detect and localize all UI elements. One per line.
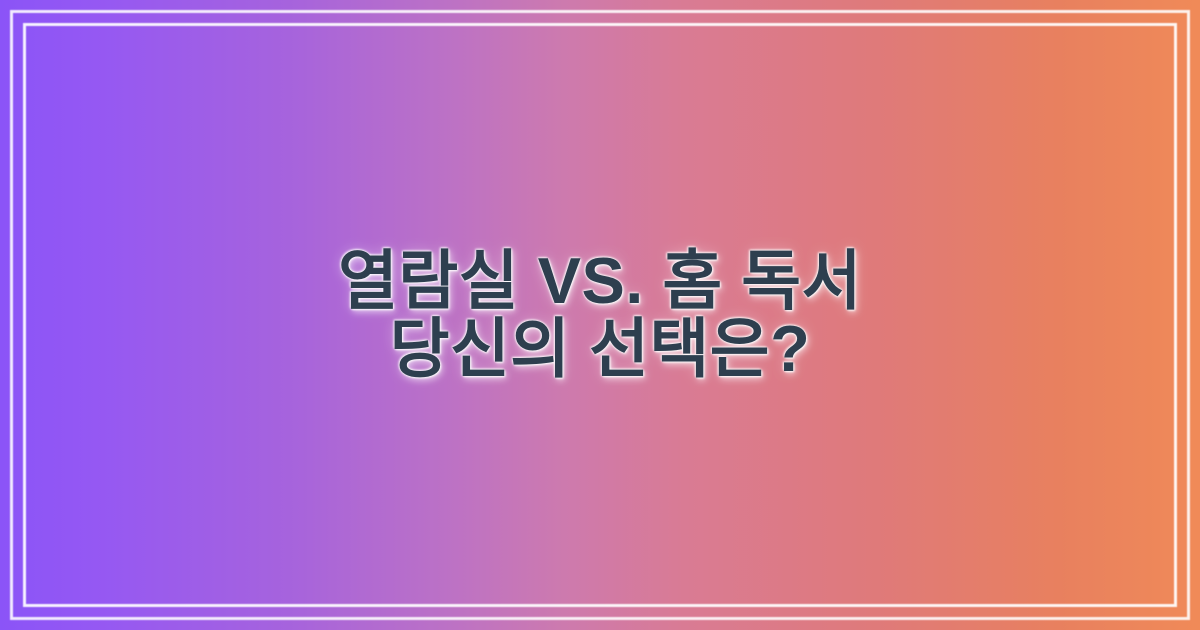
social-card: 열람실 VS. 홈 독서 당신의 선택은? [0, 0, 1200, 630]
headline-container: 열람실 VS. 홈 독서 당신의 선택은? [0, 0, 1200, 630]
headline-text: 열람실 VS. 홈 독서 당신의 선택은? [338, 247, 862, 383]
